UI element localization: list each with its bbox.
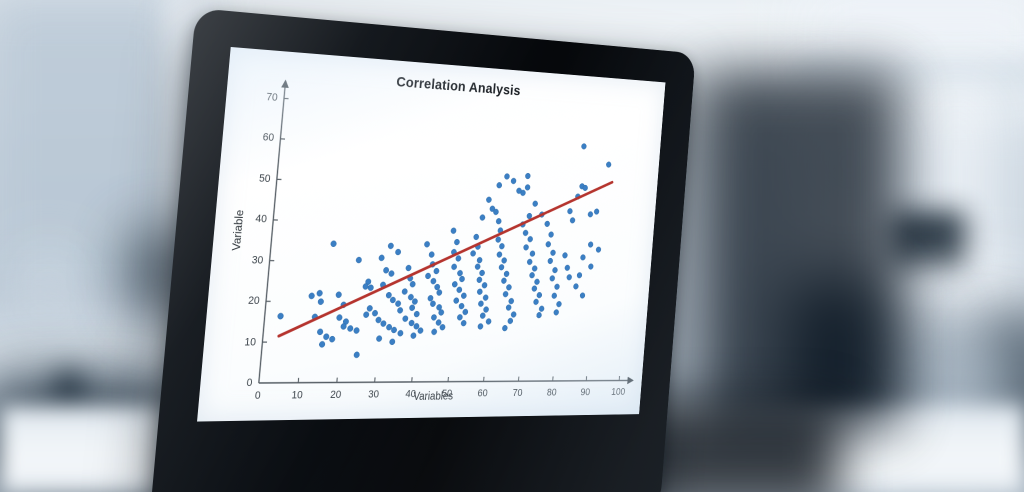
scatter-point <box>534 279 539 285</box>
scatter-point <box>477 257 483 263</box>
scatter-point <box>368 285 374 291</box>
scatter-point <box>347 325 353 331</box>
scatter-point <box>354 352 360 358</box>
scatter-point <box>588 242 593 248</box>
scatter-point <box>424 241 430 247</box>
scatter-point <box>397 330 403 336</box>
scatter-point <box>552 267 557 273</box>
scatter-point <box>477 277 483 283</box>
scatter-point <box>565 265 570 271</box>
scatter-point <box>395 301 401 307</box>
scatter-point <box>483 307 489 313</box>
scatter-point <box>511 178 516 184</box>
scatter-point <box>511 312 516 318</box>
scatter-point <box>606 162 611 168</box>
scatter-point <box>577 272 582 278</box>
scatter-point <box>412 299 418 305</box>
scatter-point <box>434 284 440 290</box>
scatter-point <box>451 228 457 234</box>
scatter-point <box>533 299 538 305</box>
monitor-bezel[interactable]: Correlation Analysis 0102030405060708090… <box>148 8 695 492</box>
scatter-point <box>532 286 537 292</box>
scatter-point <box>523 244 528 250</box>
scatter-point <box>504 271 509 277</box>
scatter-point <box>567 274 572 280</box>
scatter-point <box>567 208 572 214</box>
screenshot-scene: Correlation Analysis 0102030405060708090… <box>0 0 1024 492</box>
scatter-point <box>503 291 508 297</box>
scatter-point <box>428 295 434 301</box>
scatter-point <box>475 264 481 270</box>
scatter-point <box>532 266 537 272</box>
scatter-point <box>548 232 553 238</box>
scatter-point <box>336 292 342 298</box>
scatter-point <box>537 292 542 298</box>
scatter-point <box>530 251 535 257</box>
scatter-point <box>354 328 360 334</box>
scatter-point <box>395 249 401 255</box>
scatter-point <box>477 289 483 295</box>
scatter-point <box>363 312 369 318</box>
scatter-point <box>501 258 506 264</box>
scatter-point <box>529 272 534 278</box>
scatter-point <box>588 264 593 270</box>
scatter-point <box>532 201 537 207</box>
scatter-point <box>318 299 324 305</box>
scatter-point <box>496 218 502 224</box>
y-axis-line <box>259 81 286 383</box>
scatter-point <box>457 314 463 320</box>
scatter-point <box>414 311 420 317</box>
scatter-point <box>376 317 382 323</box>
bg-left-cabinet <box>0 290 100 332</box>
scatter-point <box>506 284 511 290</box>
y-tick-label: 40 <box>255 213 267 225</box>
scatter-point <box>410 281 416 287</box>
scatter-point <box>470 250 476 256</box>
scatter-point <box>506 305 511 311</box>
scatter-point <box>389 271 395 277</box>
scatter-point <box>573 284 578 290</box>
y-tick-label: 50 <box>259 173 271 185</box>
scatter-point <box>457 270 463 276</box>
scatter-point <box>317 290 323 296</box>
scatter-point <box>454 239 460 245</box>
scatter-point <box>486 319 492 325</box>
y-tick-label: 70 <box>266 91 278 104</box>
scatter-point <box>459 303 465 309</box>
scatter-point <box>436 290 442 296</box>
scatter-point <box>431 278 437 284</box>
scatter-point <box>406 265 412 271</box>
scatter-point <box>331 241 337 247</box>
scatter-point <box>431 314 437 320</box>
scatter-point <box>580 293 585 299</box>
scatter-point <box>418 328 424 334</box>
scatter-point <box>402 289 408 295</box>
scatter-point <box>478 324 484 330</box>
scatter-point <box>319 341 325 347</box>
trendline <box>279 166 612 338</box>
scatter-point <box>456 255 462 261</box>
y-tick-label: 0 <box>246 377 253 389</box>
scatter-point <box>479 270 485 276</box>
axes-layer <box>259 81 655 383</box>
scatter-point <box>552 293 557 299</box>
scatter-point <box>581 143 586 149</box>
scatter-point <box>550 250 555 256</box>
scatter-point <box>341 323 347 329</box>
scatter-point <box>480 215 486 221</box>
scatter-point <box>596 247 601 253</box>
scatter-point <box>525 173 530 179</box>
scatter-point <box>451 264 457 270</box>
correlation-chart[interactable]: Correlation Analysis 0102030405060708090… <box>197 47 665 422</box>
scatter-point <box>429 252 435 258</box>
scatter-point <box>525 184 530 190</box>
scatter-point <box>483 295 489 301</box>
scatter-point <box>386 292 392 298</box>
scatter-point <box>383 267 389 273</box>
bg-right-mullion-2 <box>998 74 1012 304</box>
scatter-point <box>411 333 417 339</box>
scatter-point <box>508 318 513 324</box>
scatter-point <box>502 325 507 331</box>
scatter-point <box>546 241 551 247</box>
monitor-shadow-mass <box>700 70 900 430</box>
trendline-layer <box>279 166 612 338</box>
scatter-point <box>499 243 505 249</box>
scatter-point <box>329 336 335 342</box>
scatter-point <box>499 264 505 270</box>
scatter-point <box>356 257 362 263</box>
scatter-point <box>463 309 469 315</box>
scatter-point <box>527 213 532 219</box>
scatter-point <box>323 334 329 340</box>
scatter-point <box>556 301 561 307</box>
scatter-point <box>523 230 528 236</box>
scatter-point <box>509 298 514 304</box>
scatter-points-layer <box>274 126 613 358</box>
x-axis-line <box>259 380 633 383</box>
scatter-point <box>536 312 541 318</box>
scatter-point <box>397 307 403 313</box>
scatter-point <box>554 284 559 290</box>
scatter-point <box>548 258 553 264</box>
scatter-point <box>501 278 506 284</box>
scatter-point <box>390 297 396 303</box>
scatter-point <box>363 283 369 289</box>
ticks-layer <box>259 98 640 383</box>
scatter-point <box>580 255 585 261</box>
scatter-point <box>440 324 446 330</box>
scatter-point <box>496 182 502 188</box>
scatter-point <box>277 313 283 319</box>
scatter-point <box>388 243 394 249</box>
scatter-point <box>336 315 342 321</box>
y-tick-label: 10 <box>244 336 256 348</box>
scatter-point <box>588 211 593 217</box>
monitor-screen[interactable]: Correlation Analysis 0102030405060708090… <box>197 47 665 422</box>
scatter-point <box>550 275 555 281</box>
y-tick-label: 20 <box>248 295 260 307</box>
scatter-point <box>386 324 392 330</box>
scatter-point <box>389 339 395 345</box>
scatter-point <box>527 259 532 265</box>
scatter-point <box>539 306 544 312</box>
scatter-point <box>495 237 501 243</box>
scatter-point <box>459 276 465 282</box>
scatter-point <box>473 234 479 240</box>
scatter-point <box>452 281 458 287</box>
scatter-point <box>457 287 463 293</box>
scatter-point <box>409 305 415 311</box>
scatter-point <box>486 197 492 203</box>
bg-right-monitor <box>890 212 966 272</box>
y-tick-label: 30 <box>251 254 263 266</box>
scatter-point <box>402 316 408 322</box>
y-tick-label: 60 <box>262 132 274 144</box>
scatter-point <box>461 320 467 326</box>
scatter-point <box>391 327 397 333</box>
scatter-point <box>372 310 378 316</box>
scatter-point <box>570 217 575 223</box>
scatter-point <box>309 293 315 299</box>
scatter-point <box>480 313 486 319</box>
scatter-point <box>414 323 420 329</box>
scatter-point <box>562 252 567 258</box>
scatter-point <box>317 329 323 335</box>
scatter-point <box>482 282 488 288</box>
scatter-point <box>409 320 415 326</box>
scatter-point <box>453 298 459 304</box>
scatter-point <box>504 173 509 179</box>
scatter-point <box>379 255 385 261</box>
scatter-point <box>425 273 431 279</box>
scatter-point <box>431 329 437 335</box>
scatter-point <box>478 301 484 307</box>
scatter-point <box>528 236 533 242</box>
scatter-point <box>461 293 467 299</box>
scatter-point <box>545 221 550 227</box>
scatter-point <box>434 268 440 274</box>
scatter-point <box>430 301 436 307</box>
scatter-point <box>367 305 373 311</box>
scatter-point <box>376 336 382 342</box>
scatter-point <box>380 321 386 327</box>
scatter-point <box>594 209 599 215</box>
scatter-point <box>554 310 559 316</box>
scatter-point <box>436 320 442 326</box>
scatter-point <box>497 252 503 258</box>
scatter-point <box>408 294 414 300</box>
